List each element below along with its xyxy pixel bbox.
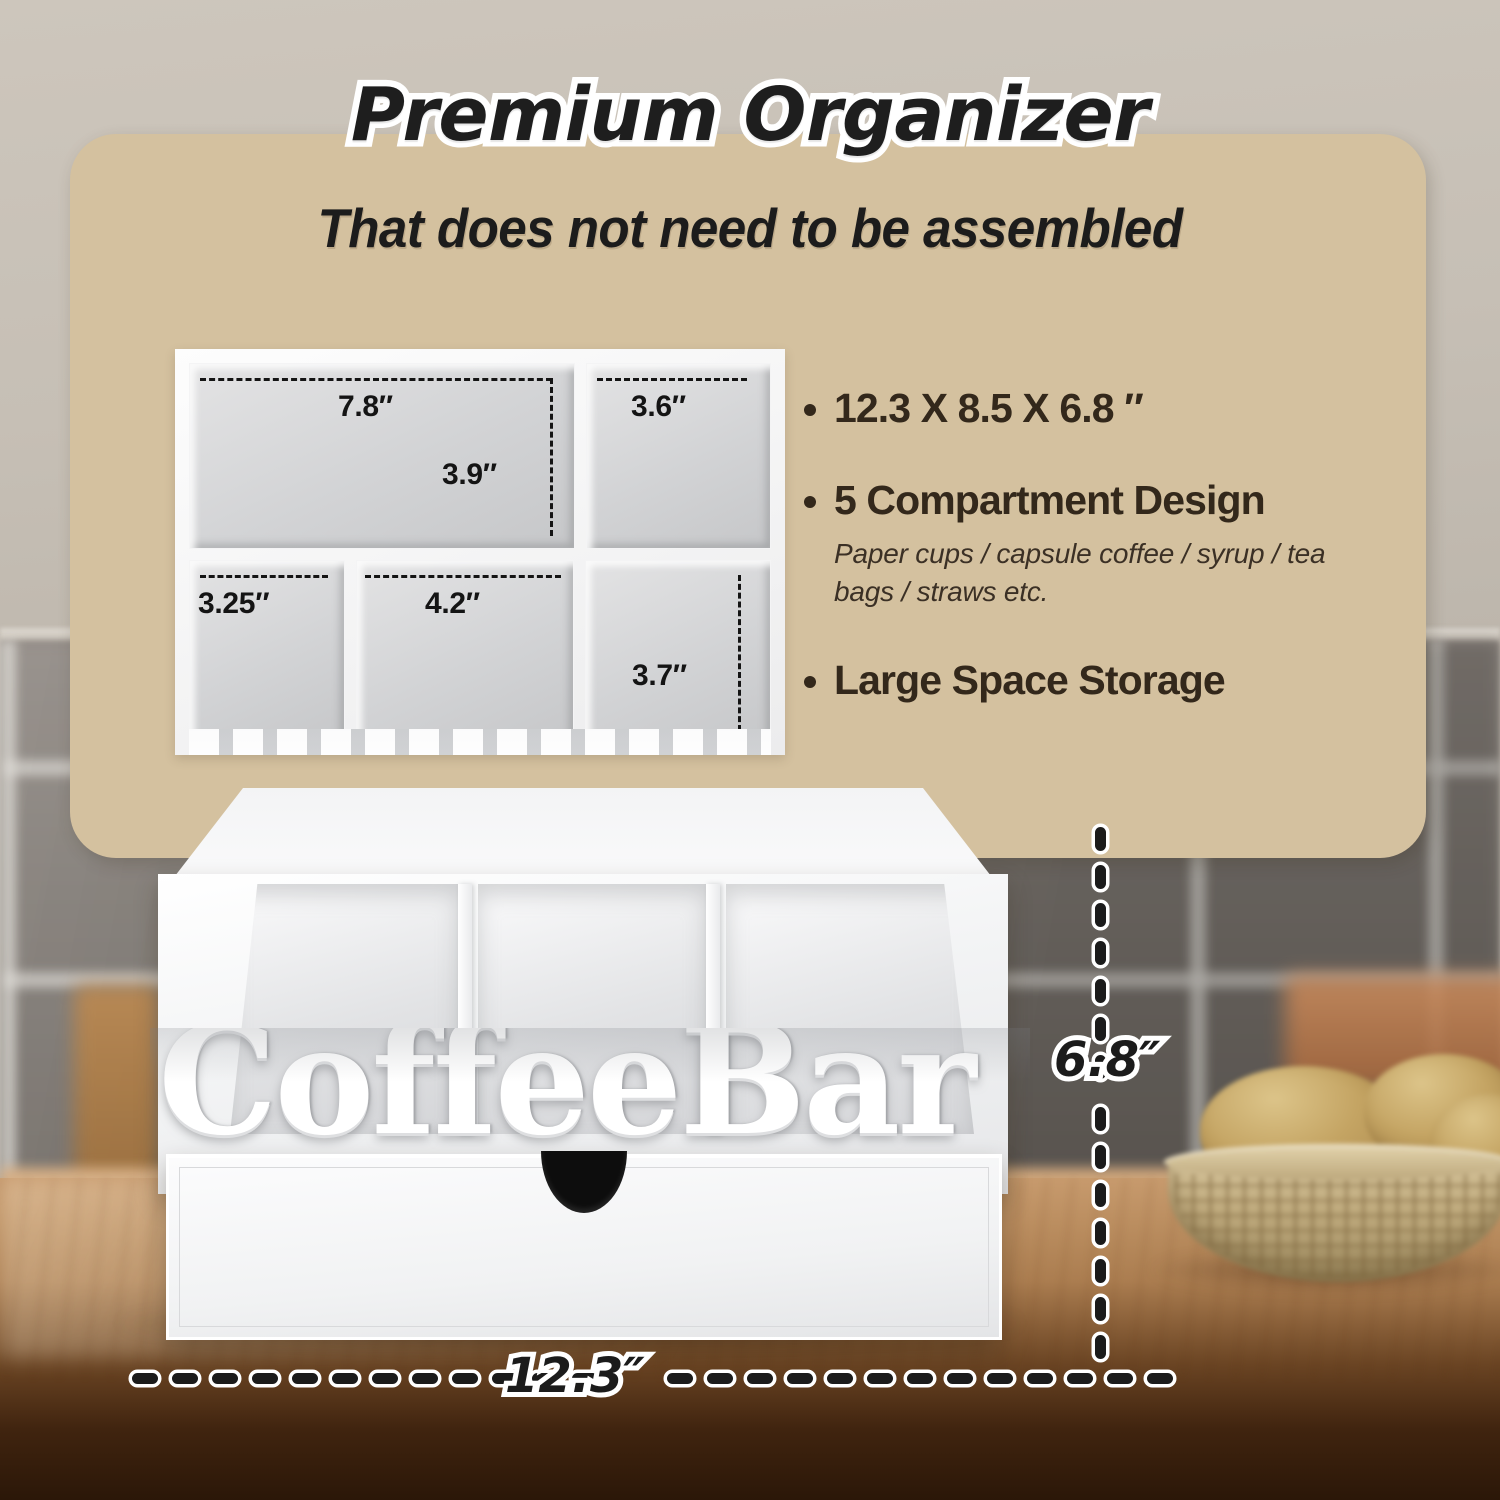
basket-weave: [1174, 1174, 1500, 1278]
feature-title: 12.3 X 8.5 X 6.8 ″: [834, 386, 1360, 432]
dimension-dash-width: [200, 378, 552, 381]
compartment-top-right: 3.6″: [586, 363, 771, 549]
page-title: Premium Organizer: [0, 72, 1500, 158]
bullet-dot-icon: [804, 676, 816, 688]
feature-title: 5 Compartment Design: [834, 478, 1360, 524]
coffeebar-cutout-lettering: CoffeeBar: [150, 1028, 1030, 1156]
product-photo-organizer: CoffeeBar: [128, 782, 1048, 1312]
diagram-base-cutouts: [189, 729, 771, 755]
dimension-dash-width: [200, 575, 328, 578]
width-dimension-label: 12.3″: [505, 1348, 645, 1404]
dimension-label-3-6: 3.6″: [631, 390, 686, 424]
width-dimension-line-right: [660, 1373, 1180, 1384]
height-dimension-line-lower: [1095, 1100, 1106, 1366]
bullet-dot-icon: [804, 496, 816, 508]
feature-item-compartments: 5 Compartment Design Paper cups / capsul…: [800, 478, 1360, 612]
dimension-label-7-8: 7.8″: [338, 390, 393, 424]
diagram-row-bottom: 3.25″ 4.2″ 3.7″: [189, 560, 771, 746]
height-dimension-label: 6.8″: [1054, 1032, 1160, 1088]
dimension-dash-width: [597, 378, 747, 381]
dimension-dash-depth: [550, 378, 553, 536]
compartment-layout-diagram: 7.8″ 3.9″ 3.6″ 3.25″ 4.2″ 3.7″: [175, 349, 785, 755]
feature-title: Large Space Storage: [834, 658, 1360, 704]
compartment-top-large: 7.8″ 3.9″: [189, 363, 575, 549]
dimension-label-3-7: 3.7″: [632, 659, 687, 693]
dimension-label-3-9: 3.9″: [442, 458, 497, 492]
page-subtitle: That does not need to be assembled: [53, 196, 1448, 260]
bread-basket: [1168, 1048, 1500, 1278]
feature-subtext: Paper cups / capsule coffee / syrup / te…: [834, 535, 1344, 612]
coffeebar-text: CoffeeBar: [158, 1028, 973, 1156]
diagram-row-top: 7.8″ 3.9″ 3.6″: [189, 363, 771, 549]
feature-item-dimensions: 12.3 X 8.5 X 6.8 ″: [800, 386, 1360, 432]
feature-list: 12.3 X 8.5 X 6.8 ″ 5 Compartment Design …: [800, 386, 1360, 704]
dimension-label-3-25: 3.25″: [198, 587, 269, 621]
compartment-bottom-right: 3.7″: [585, 560, 771, 746]
bullet-dot-icon: [804, 404, 816, 416]
basket-rim: [1164, 1144, 1500, 1180]
organizer-drawer: [166, 1154, 1002, 1340]
compartment-bottom-middle: 4.2″: [356, 560, 574, 746]
dimension-label-4-2: 4.2″: [425, 587, 480, 621]
feature-item-storage: Large Space Storage: [800, 658, 1360, 704]
dimension-dash-depth: [738, 575, 741, 731]
dimension-dash-width: [365, 575, 561, 578]
compartment-bottom-left: 3.25″: [189, 560, 345, 746]
